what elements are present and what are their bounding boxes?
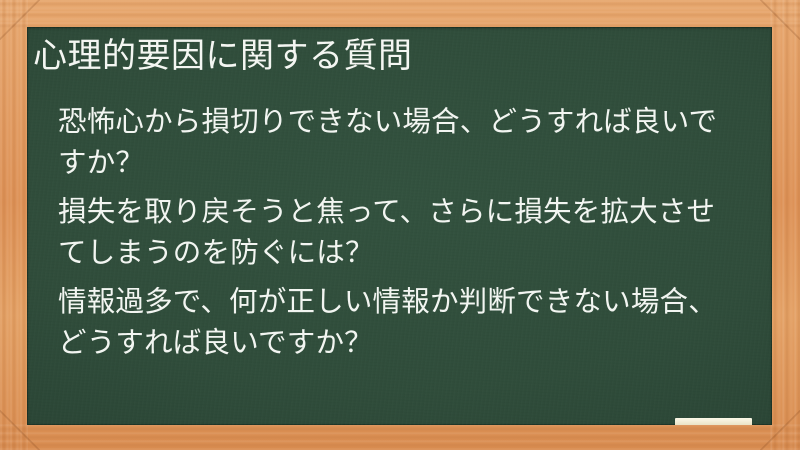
question-item-3: 情報過多で、何が正しい情報か判断できない場合、どうすれば良いですか？ (58, 281, 738, 363)
frame-grain-right (770, 0, 800, 450)
question-item-2: 損失を取り戻そうと焦って、さらに損失を拡大させてしまうのを防ぐには？ (58, 191, 738, 273)
chalkboard-surface: 心理的要因に関する質問 恐怖心から損切りできない場合、どうすれば良いですか？ 損… (27, 27, 772, 425)
frame-grain-bottom (0, 424, 800, 450)
frame-grain-top (0, 0, 800, 28)
question-list: 恐怖心から損切りできない場合、どうすれば良いですか？ 損失を取り戻そうと焦って、… (58, 101, 738, 371)
question-item-1: 恐怖心から損切りできない場合、どうすれば良いですか？ (58, 101, 738, 183)
chalkboard-slide: 心理的要因に関する質問 恐怖心から損切りできない場合、どうすれば良いですか？ 損… (0, 0, 800, 450)
slide-title: 心理的要因に関する質問 (33, 33, 753, 79)
frame-grain-left (0, 0, 28, 450)
chalk-stick-icon (675, 418, 752, 425)
